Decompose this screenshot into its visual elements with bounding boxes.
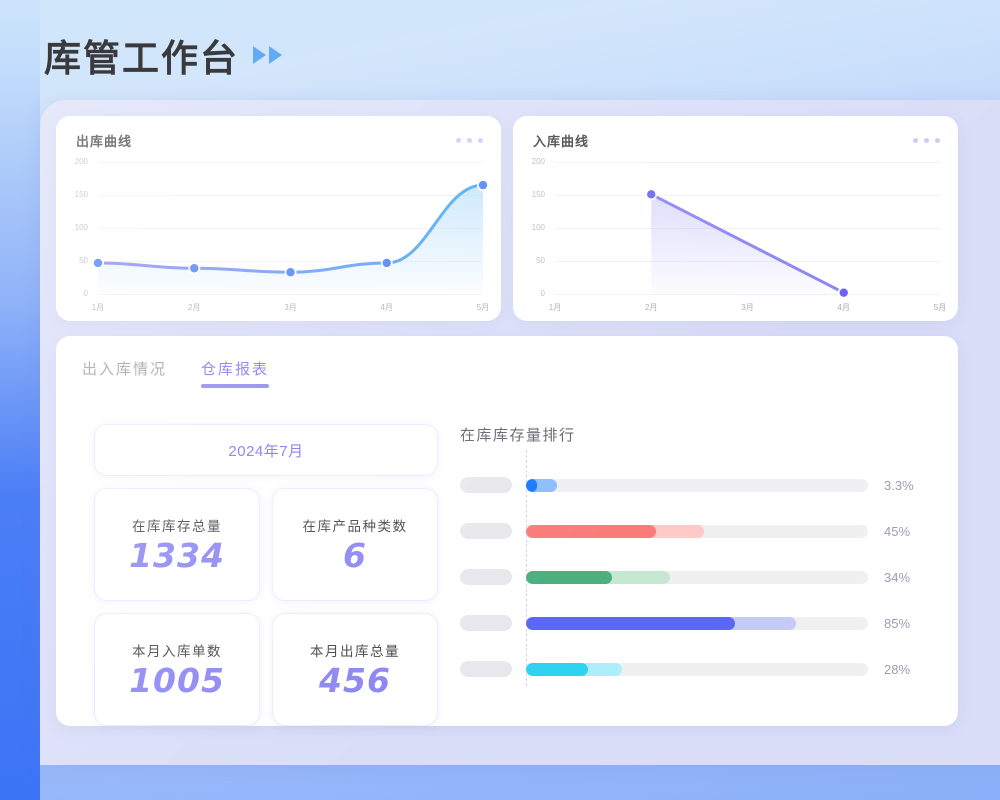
inbound-plot-area: 2001501005001月2月3月4月5月: [513, 154, 958, 321]
double-right-arrow-icon[interactable]: [253, 46, 282, 64]
ranking-bar-dark-segment: [526, 571, 612, 584]
stats-row-1: 在库库存总量 1334 在库产品种类数 6: [94, 488, 438, 601]
arrow-glyph-2: [269, 46, 282, 64]
kpi-value: 1334: [129, 537, 225, 575]
arrow-glyph-1: [253, 46, 266, 64]
ranking-bar-track: [526, 525, 868, 538]
chart-svg: [513, 154, 958, 321]
page-title: 库管工作台: [44, 28, 239, 82]
ranking-percent-label: 3.3%: [884, 478, 932, 493]
ranking-percent-label: 34%: [884, 570, 932, 585]
ranking-bar-dark-segment: [526, 525, 656, 538]
dot-3: [935, 138, 940, 143]
inbound-chart-title: 入库曲线: [533, 131, 589, 150]
kpi-label: 本月入库单数: [132, 640, 222, 660]
outbound-card-header: 出库曲线: [76, 131, 483, 150]
ranking-row: 3.3%: [460, 462, 932, 508]
ranking-row: 45%: [460, 508, 932, 554]
chart-svg: [56, 154, 501, 321]
ranking-percent-label: 45%: [884, 524, 932, 539]
dot-2: [467, 138, 472, 143]
report-panel: 出入库情况 仓库报表 2024年7月 在库库存总量 1334 在库产品种类数 6…: [56, 336, 958, 726]
ranking-row: 34%: [460, 554, 932, 600]
kpi-value: 6: [343, 537, 367, 575]
ranking-bar-track: [526, 663, 868, 676]
ranking-title: 在库库存量排行: [460, 424, 932, 445]
kpi-month-outbound-total: 本月出库总量 456: [272, 613, 438, 726]
outbound-chart-card: 出库曲线 2001501005001月2月3月4月5月: [56, 116, 501, 321]
inbound-chart-card: 入库曲线 2001501005001月2月3月4月5月: [513, 116, 958, 321]
kpi-value: 1005: [129, 662, 225, 700]
kpi-product-kinds: 在库产品种类数 6: [272, 488, 438, 601]
ranking-bar-dark-segment: [526, 663, 588, 676]
panel-tabs: 出入库情况 仓库报表: [82, 358, 269, 388]
dot-1: [456, 138, 461, 143]
ranking-item-name-placeholder: [460, 523, 512, 539]
ranking-bar-track: [526, 617, 868, 630]
outbound-plot-area: 2001501005001月2月3月4月5月: [56, 154, 501, 321]
inventory-ranking: 在库库存量排行 3.3%45%34%85%28%: [460, 424, 932, 692]
more-dots-icon[interactable]: [456, 138, 483, 143]
kpi-label: 本月出库总量: [310, 640, 400, 660]
ranking-rows: 3.3%45%34%85%28%: [460, 462, 932, 692]
ranking-bar-dark-segment: [526, 479, 537, 492]
period-selector[interactable]: 2024年7月: [94, 424, 438, 476]
ranking-bar-track: [526, 479, 868, 492]
ranking-row: 28%: [460, 646, 932, 692]
more-dots-icon[interactable]: [913, 138, 940, 143]
dashboard-shell: 出库曲线 2001501005001月2月3月4月5月 入库曲线 2001501…: [40, 100, 1000, 765]
kpi-value: 456: [319, 662, 391, 700]
page-header: 库管工作台: [44, 28, 282, 82]
ranking-bar-dark-segment: [526, 617, 735, 630]
dot-3: [478, 138, 483, 143]
ranking-percent-label: 85%: [884, 616, 932, 631]
kpi-label: 在库库存总量: [132, 515, 222, 535]
ranking-percent-label: 28%: [884, 662, 932, 677]
kpi-month-inbound-orders: 本月入库单数 1005: [94, 613, 260, 726]
ranking-item-name-placeholder: [460, 569, 512, 585]
outbound-chart-title: 出库曲线: [76, 131, 132, 150]
period-value: 2024年7月: [228, 440, 303, 461]
ranking-row: 85%: [460, 600, 932, 646]
tab-warehouse-report[interactable]: 仓库报表: [201, 358, 269, 388]
ranking-bar-track: [526, 571, 868, 584]
ranking-item-name-placeholder: [460, 477, 512, 493]
inbound-card-header: 入库曲线: [533, 131, 940, 150]
left-edge-accent-strip: [0, 0, 40, 800]
kpi-label: 在库产品种类数: [303, 515, 408, 535]
tab-inout-status[interactable]: 出入库情况: [82, 358, 167, 388]
dot-2: [924, 138, 929, 143]
ranking-item-name-placeholder: [460, 615, 512, 631]
kpi-total-stock: 在库库存总量 1334: [94, 488, 260, 601]
dot-1: [913, 138, 918, 143]
stats-row-2: 本月入库单数 1005 本月出库总量 456: [94, 613, 438, 726]
ranking-item-name-placeholder: [460, 661, 512, 677]
stats-grid: 2024年7月 在库库存总量 1334 在库产品种类数 6 本月入库单数 100…: [94, 424, 438, 738]
